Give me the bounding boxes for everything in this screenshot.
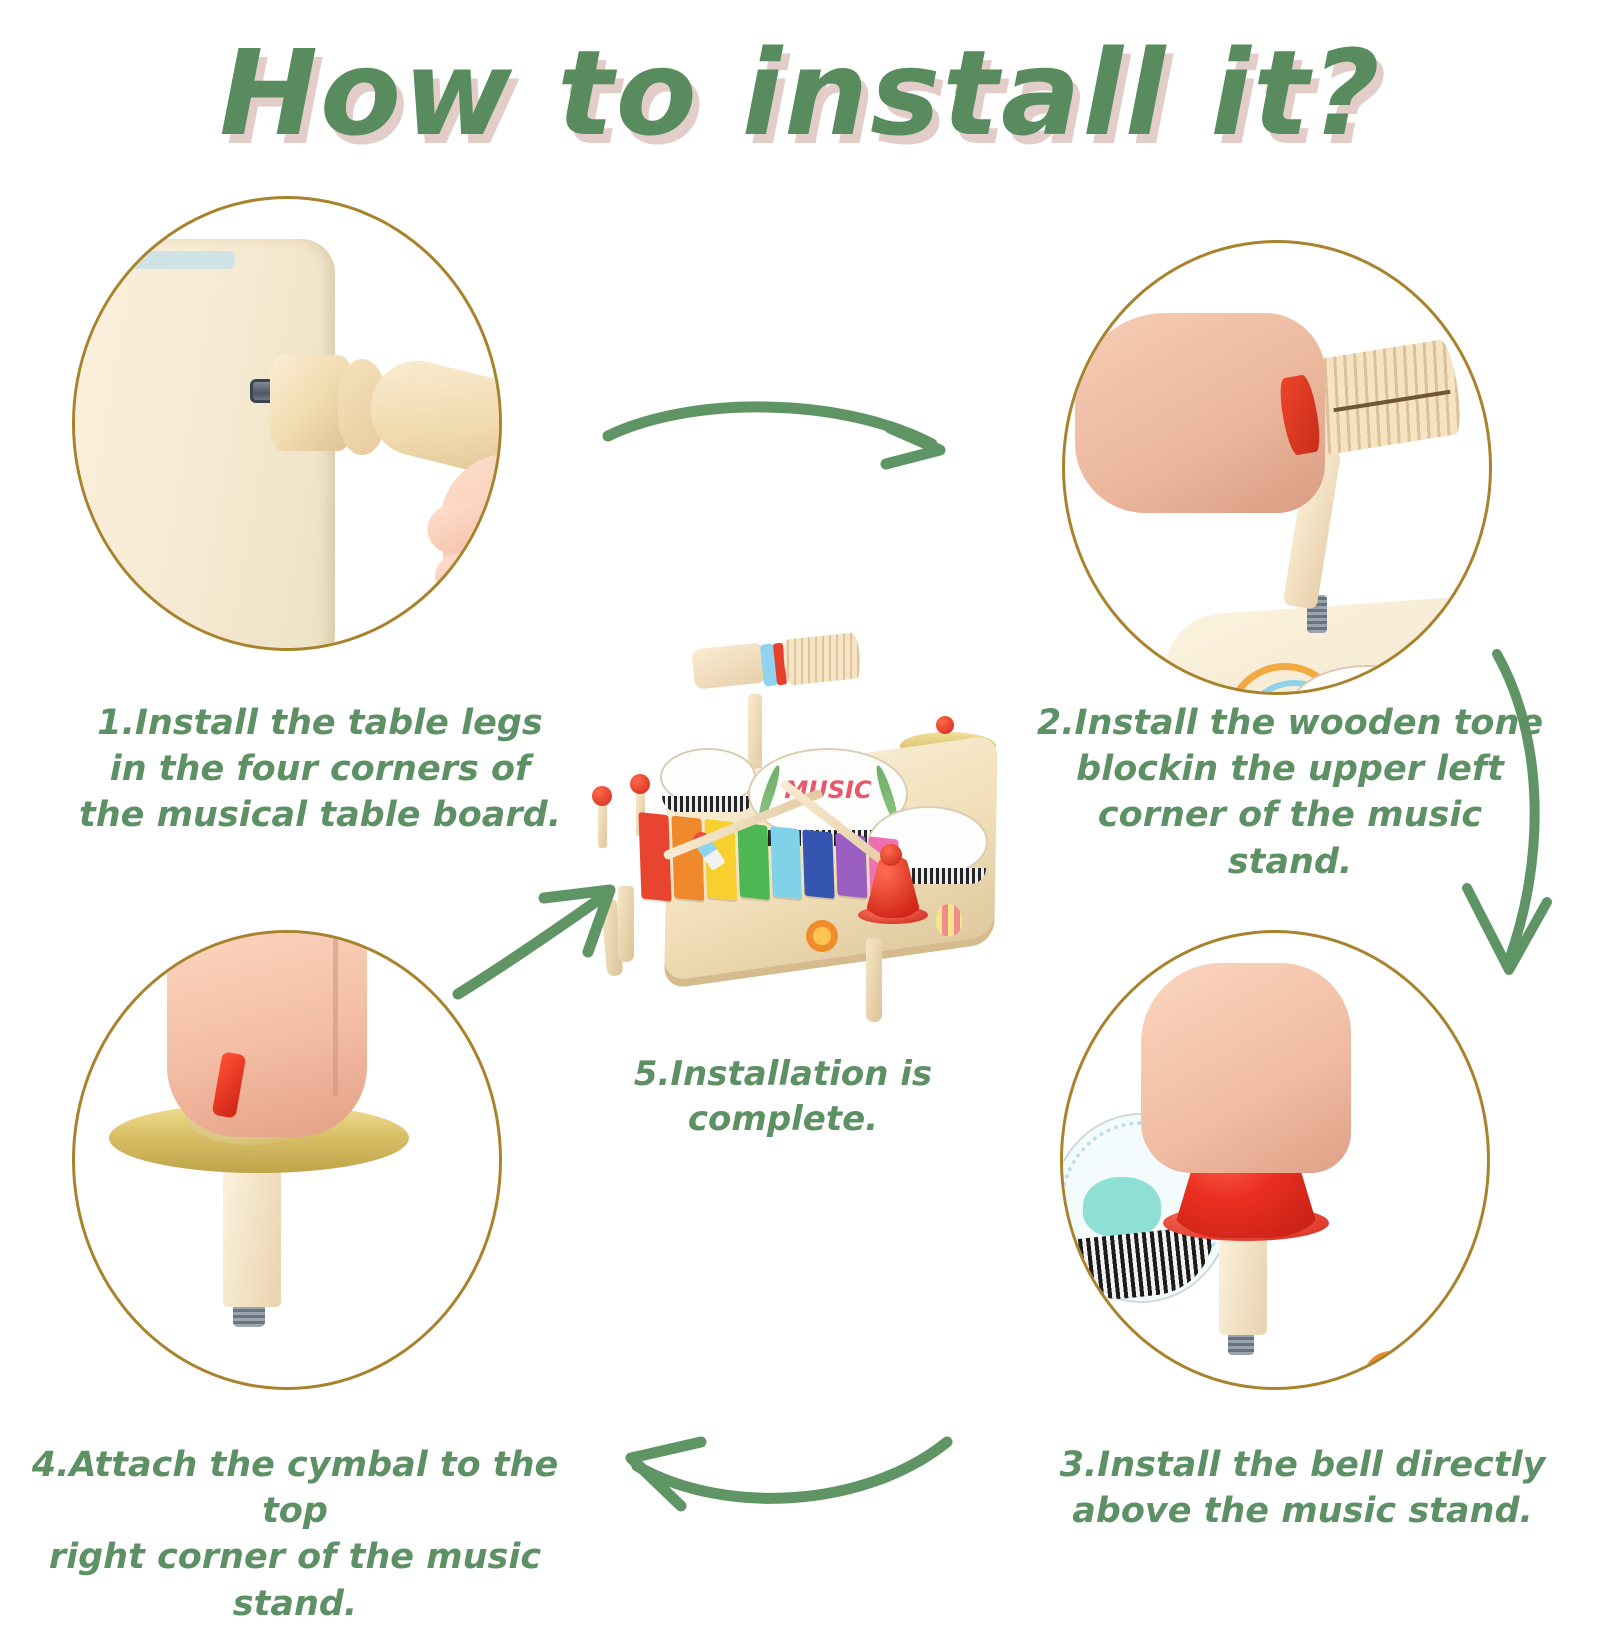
xylophone-key-6 [803,829,835,898]
step-2-caption: 2.Install the wooden tone blockin the up… [1030,700,1550,885]
step-3-caption: 3.Install the bell directly above the mu… [1030,1442,1575,1534]
hand [1141,963,1351,1173]
step-3-illustration [1063,933,1487,1387]
page-title: How to install it? [0,24,1601,162]
step-1-illustration [75,199,499,648]
step-4-caption: 4.Attach the cymbal to the top right cor… [10,1442,580,1627]
mounting-dowel [1219,1225,1267,1335]
xylophone-key-5 [770,826,802,899]
xylophone-key-4 [737,822,769,899]
hot-air-balloon-sticker [936,904,962,936]
music-stand-board [100,1195,502,1390]
finger-split [333,930,338,1097]
step-5-caption: 5.Installation is complete. [548,1052,1018,1142]
arrow-step4-to-step5-icon [452,872,632,1012]
lion-sticker [806,920,838,952]
wooden-tone-block [1306,338,1464,456]
step-4-illustration [75,933,499,1387]
step-1-caption: 1.Install the table legs in the four cor… [70,700,570,839]
step-4-photo [72,930,502,1390]
pink-stripe-sticker [1094,1345,1222,1390]
mounting-dowel [223,1157,281,1307]
hand [167,930,367,1137]
tone-block-lower [691,642,767,689]
table-leg-3 [866,938,882,1022]
arrow-step3-to-step4-icon [595,1392,955,1542]
peg-ball-2 [630,774,650,794]
wooden-tone-block [782,632,862,686]
arrow-step1-to-step2-icon [600,378,970,508]
elephant-sticker [1083,1177,1161,1237]
lion-sticker [1363,1351,1419,1390]
drum-music-label: MUSIC [750,776,906,804]
step-2-illustration: ✦ [1065,243,1489,692]
peg-1 [598,802,607,848]
drum-side-band [662,796,754,812]
step-2-photo: ✦ [1062,240,1492,695]
bell-knob [880,844,902,866]
peg-ball-1 [592,786,612,806]
cymbal-knob [936,716,954,734]
step-3-photo [1060,930,1490,1390]
board-edge-strip [72,251,238,269]
xylophone-key-2 [671,816,704,902]
step-1-photo [72,196,502,651]
rabbit-drum [660,748,756,806]
finger-3 [443,597,502,637]
